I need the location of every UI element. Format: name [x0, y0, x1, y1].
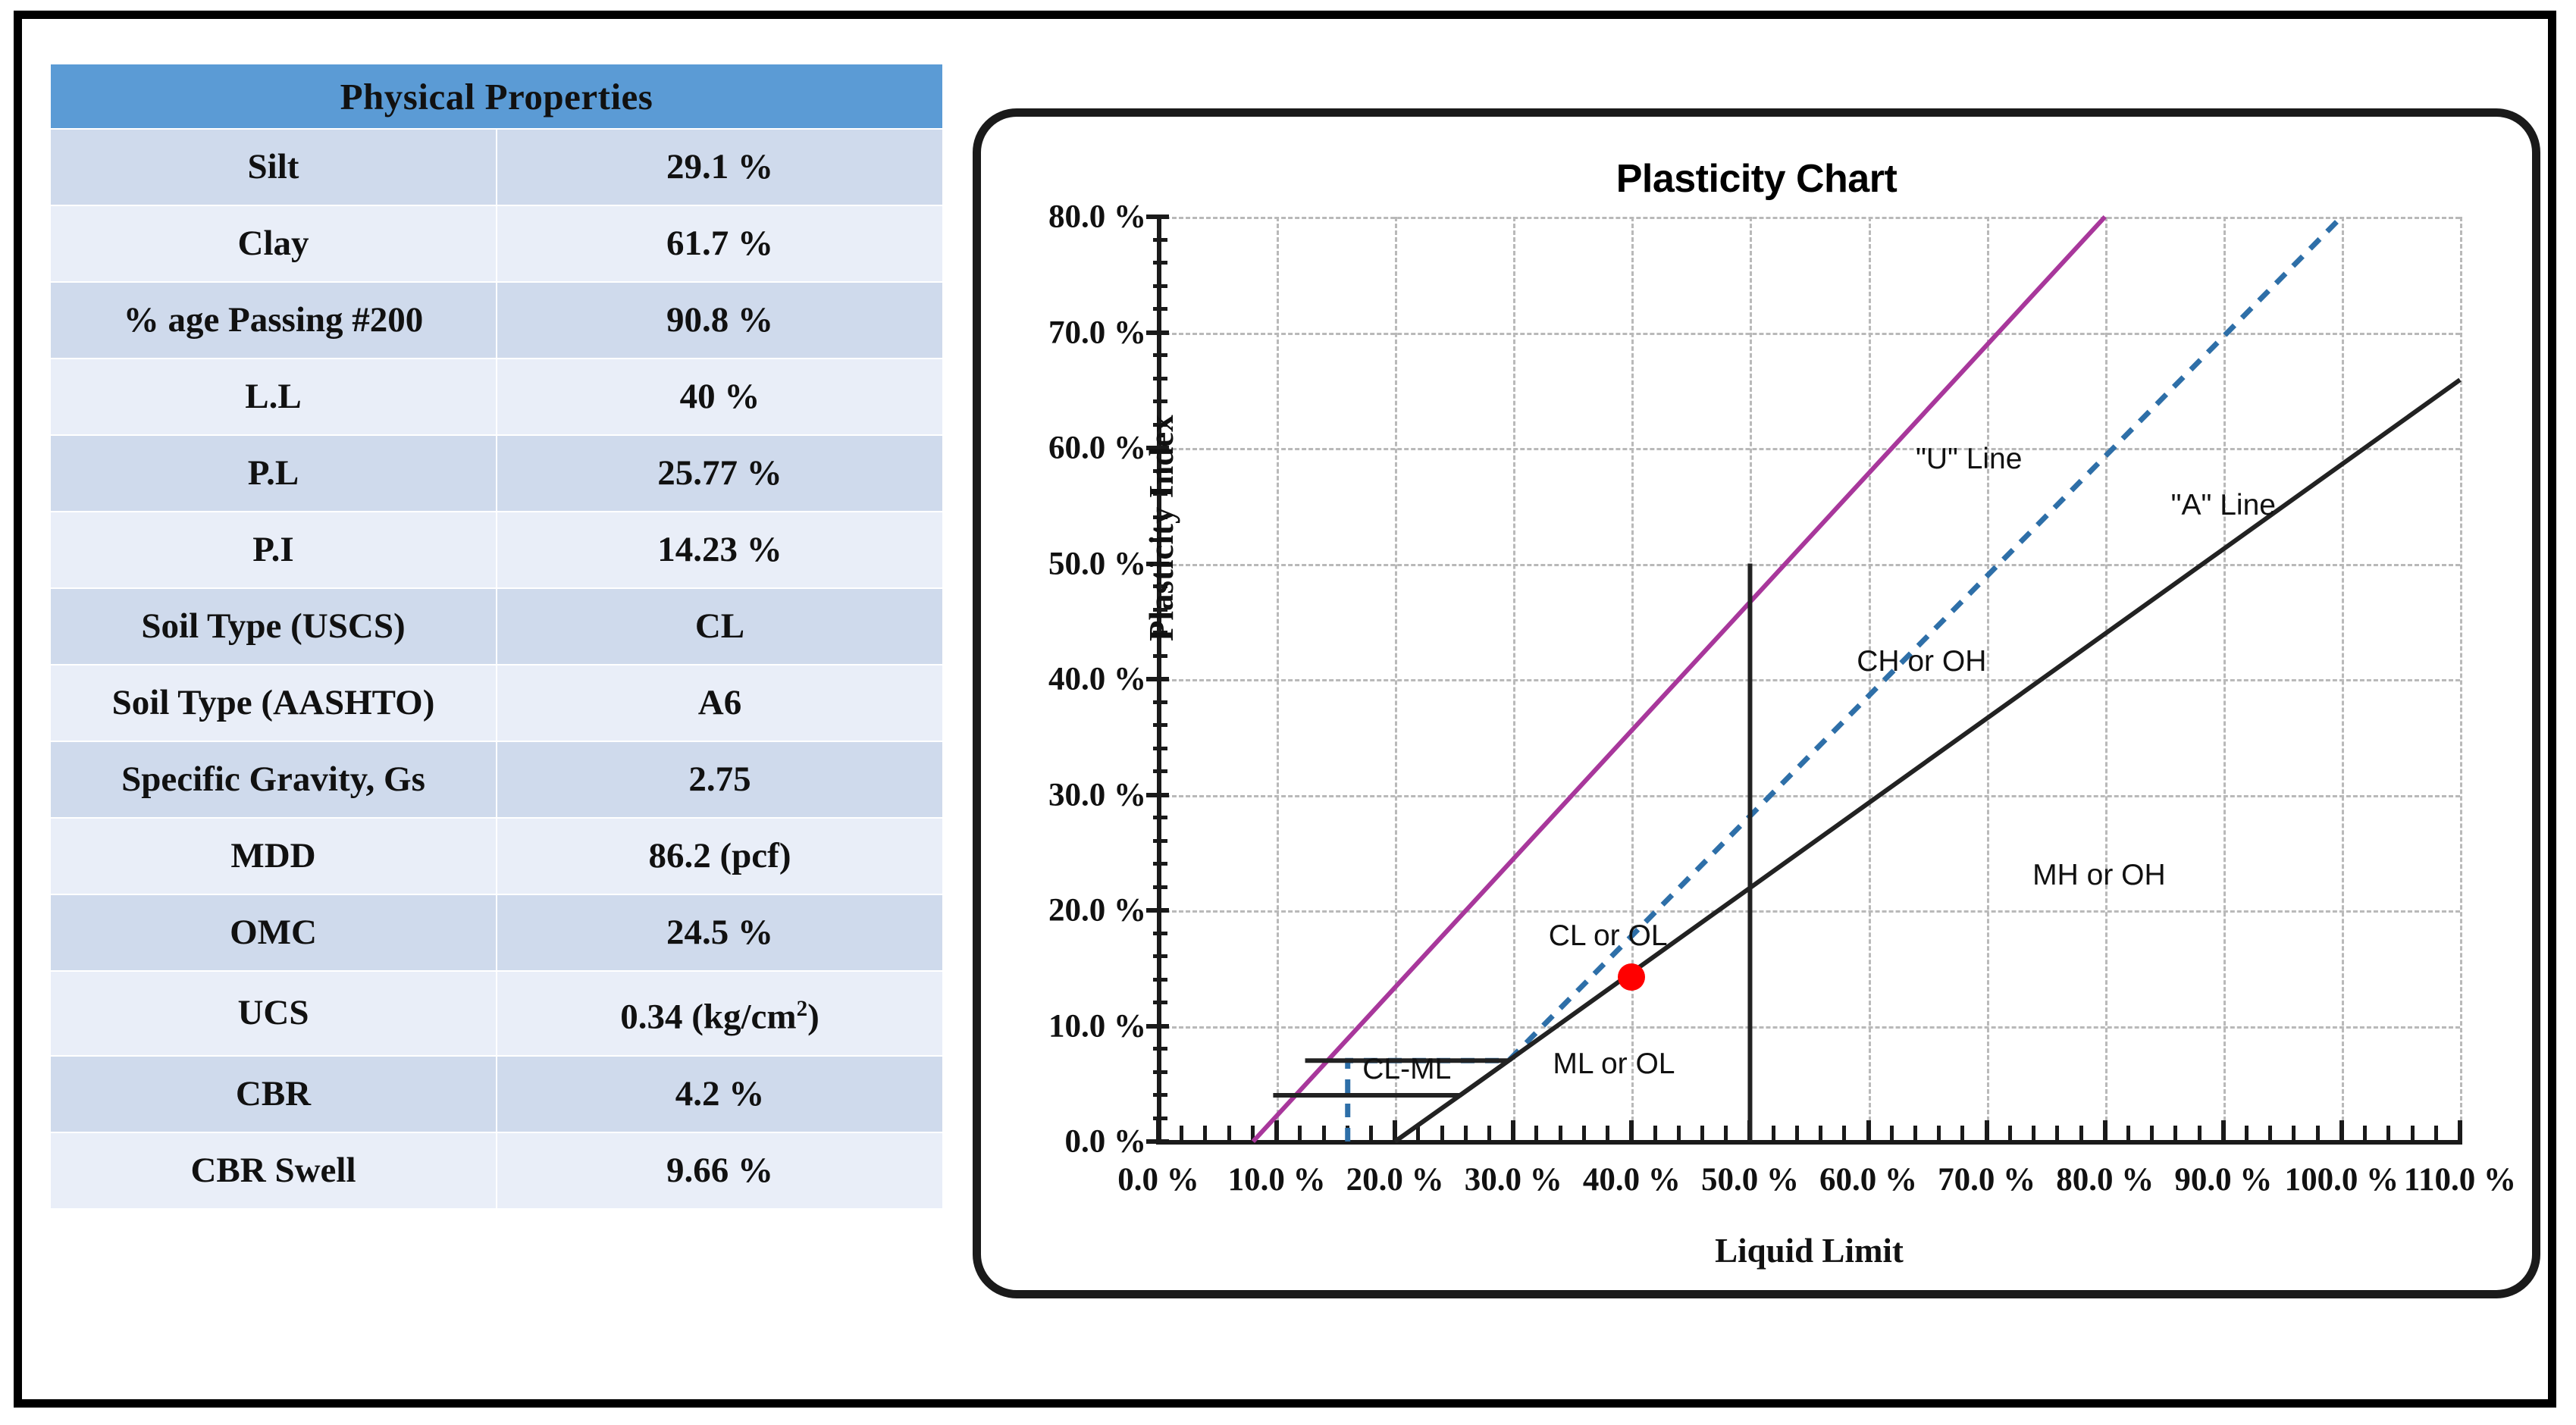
y-tick-label: 70.0 %	[972, 314, 1146, 351]
x-tick-label: 80.0 %	[2056, 1161, 2154, 1198]
property-label: % age Passing #200	[50, 282, 497, 359]
property-label: Soil Type (AASHTO)	[50, 665, 497, 741]
y-tick-label: 0.0 %	[972, 1123, 1146, 1160]
property-label: P.I	[50, 512, 497, 588]
chart-annotation-label: CH or OH	[1857, 645, 1986, 678]
table-row: P.I14.23 %	[50, 512, 943, 588]
series-line	[1395, 380, 2460, 1142]
x-tick-label: 70.0 %	[1938, 1161, 2035, 1198]
y-tick-label: 50.0 %	[972, 545, 1146, 582]
y-tick-label: 10.0 %	[972, 1007, 1146, 1044]
chart-annotation-label: "U" Line	[1916, 443, 2022, 476]
property-value: 14.23 %	[497, 512, 943, 588]
property-value: 29.1 %	[497, 129, 943, 205]
property-value: 24.5 %	[497, 894, 943, 971]
y-axis-title: Plasticity Index	[1142, 415, 1181, 641]
property-label: OMC	[50, 894, 497, 971]
x-tick-label: 20.0 %	[1346, 1161, 1444, 1198]
x-tick-label: 30.0 %	[1465, 1161, 1562, 1198]
table-row: Silt29.1 %	[50, 129, 943, 205]
chart-annotation-label: MH or OH	[2032, 859, 2166, 892]
x-axis-title: Liquid Limit	[1158, 1231, 2460, 1270]
series-line	[1253, 217, 2105, 1142]
y-tick-label: 40.0 %	[972, 661, 1146, 698]
chart-annotation-label: ML or OL	[1553, 1048, 1675, 1081]
property-label: Clay	[50, 205, 497, 282]
x-tick-label: 100.0 %	[2285, 1161, 2399, 1198]
x-tick-label: 90.0 %	[2174, 1161, 2272, 1198]
property-label: L.L	[50, 359, 497, 435]
property-value: 9.66 %	[497, 1132, 943, 1209]
table-row: Soil Type (AASHTO)A6	[50, 665, 943, 741]
table-row: % age Passing #20090.8 %	[50, 282, 943, 359]
x-tick-label: 60.0 %	[1819, 1161, 1917, 1198]
x-tick-label: 110.0 %	[2404, 1161, 2516, 1198]
property-value: 40 %	[497, 359, 943, 435]
property-value: 2.75	[497, 741, 943, 818]
property-value: 0.34 (kg/cm2)	[497, 971, 943, 1056]
x-tick-label: 0.0 %	[1117, 1161, 1199, 1198]
property-value: 61.7 %	[497, 205, 943, 282]
property-value: 25.77 %	[497, 435, 943, 512]
plasticity-chart-panel: Plasticity Chart 0.0 %10.0 %20.0 %30.0 %…	[973, 108, 2540, 1298]
property-label: Silt	[50, 129, 497, 205]
table-row: MDD86.2 (pcf)	[50, 818, 943, 894]
property-label: CBR Swell	[50, 1132, 497, 1209]
property-label: P.L	[50, 435, 497, 512]
table-header-title: Physical Properties	[50, 64, 943, 129]
plot-area: 0.0 %10.0 %20.0 %30.0 %40.0 %50.0 %60.0 …	[1158, 217, 2460, 1142]
chart-annotation-label: CL-ML	[1362, 1053, 1451, 1086]
gridline-vertical	[2460, 217, 2462, 1142]
property-label: CBR	[50, 1056, 497, 1132]
table-row: CBR4.2 %	[50, 1056, 943, 1132]
y-tick-label: 60.0 %	[972, 430, 1146, 467]
outer-frame: Physical Properties Silt29.1 %Clay61.7 %…	[14, 11, 2556, 1408]
table-body: Silt29.1 %Clay61.7 %% age Passing #20090…	[50, 129, 943, 1209]
table-row: UCS0.34 (kg/cm2)	[50, 971, 943, 1056]
table-row: Specific Gravity, Gs2.75	[50, 741, 943, 818]
chart-annotation-label: "A" Line	[2171, 489, 2276, 522]
y-tick-label: 30.0 %	[972, 776, 1146, 813]
sample-datapoint-marker	[1618, 963, 1645, 991]
property-value: A6	[497, 665, 943, 741]
table-row: OMC24.5 %	[50, 894, 943, 971]
property-value: 4.2 %	[497, 1056, 943, 1132]
y-tick-label: 80.0 %	[972, 199, 1146, 236]
table-row: L.L40 %	[50, 359, 943, 435]
table-header-row: Physical Properties	[50, 64, 943, 129]
y-tick-label: 20.0 %	[972, 892, 1146, 929]
chart-title: Plasticity Chart	[981, 156, 2532, 202]
property-label: MDD	[50, 818, 497, 894]
property-label: Specific Gravity, Gs	[50, 741, 497, 818]
x-tick-label: 50.0 %	[1701, 1161, 1799, 1198]
property-value: 86.2 (pcf)	[497, 818, 943, 894]
chart-annotation-label: CL or OL	[1549, 919, 1668, 953]
physical-properties-table: Physical Properties Silt29.1 %Clay61.7 %…	[49, 63, 944, 1210]
x-tick-label: 40.0 %	[1583, 1161, 1681, 1198]
property-value: CL	[497, 588, 943, 665]
x-tick-label: 10.0 %	[1228, 1161, 1326, 1198]
series-line	[1348, 217, 2342, 1142]
property-label: UCS	[50, 971, 497, 1056]
series-overlay	[1158, 217, 2460, 1142]
table-row: Soil Type (USCS)CL	[50, 588, 943, 665]
table-row: Clay61.7 %	[50, 205, 943, 282]
table-row: CBR Swell9.66 %	[50, 1132, 943, 1209]
table-row: P.L25.77 %	[50, 435, 943, 512]
property-label: Soil Type (USCS)	[50, 588, 497, 665]
property-value: 90.8 %	[497, 282, 943, 359]
